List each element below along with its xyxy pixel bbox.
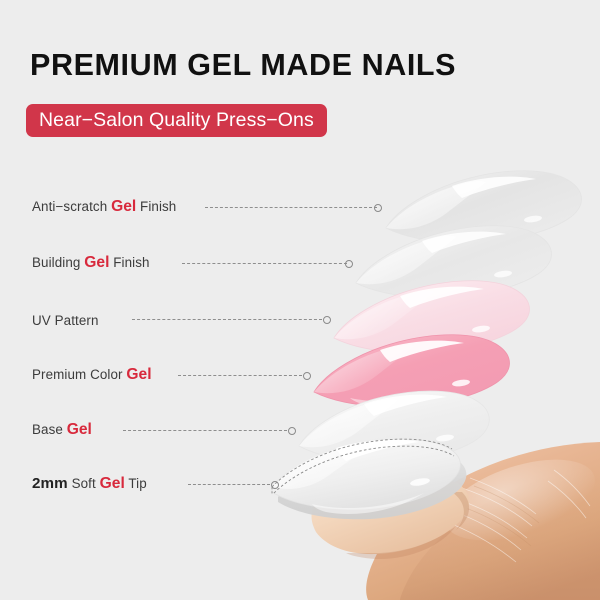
callout-leader-line-uv-pattern: [132, 319, 322, 320]
callout-label-gel-word: Gel: [126, 366, 151, 383]
callout-label-gel-word: Gel: [111, 198, 136, 215]
nail-layers-illustration: [0, 0, 600, 600]
callout-label-gel-word: Gel: [67, 421, 92, 438]
callout-label-gel-word: Gel: [100, 475, 125, 492]
callout-endpoint-marker-building-gel-finish: [345, 260, 353, 268]
callout-endpoint-marker-anti-scratch-gel-finish: [374, 204, 382, 212]
callout-label-suffix: Finish: [136, 199, 176, 214]
callout-label-prefix: Anti−scratch: [32, 199, 111, 214]
callout-leader-line-premium-color-gel: [178, 375, 302, 376]
callout-label-prefix: Premium Color: [32, 367, 126, 382]
callout-leader-line-2mm-soft-gel-tip: [188, 484, 270, 485]
callout-endpoint-marker-2mm-soft-gel-tip: [271, 481, 279, 489]
callout-label-prefix: UV Pattern: [32, 313, 99, 328]
callout-label-prefix: Soft: [68, 476, 100, 491]
callout-label-prefix: Base: [32, 422, 67, 437]
callout-label-uv-pattern: UV Pattern: [32, 313, 99, 328]
subtitle-badge: Near−Salon Quality Press−Ons: [26, 104, 327, 137]
callout-label-emphasis: 2mm: [32, 475, 68, 492]
callout-leader-line-anti-scratch-gel-finish: [205, 207, 377, 208]
callout-endpoint-marker-premium-color-gel: [303, 372, 311, 380]
callout-label-prefix: Building: [32, 255, 84, 270]
product-infographic-poster: PREMIUM GEL MADE NAILS Near−Salon Qualit…: [0, 0, 600, 600]
callout-leader-line-building-gel-finish: [182, 263, 347, 264]
callout-label-gel-word: Gel: [84, 254, 109, 271]
callout-label-suffix: Tip: [125, 476, 147, 491]
callout-leader-line-base-gel: [123, 430, 287, 431]
callout-label-suffix: Finish: [109, 255, 149, 270]
callout-label-anti-scratch-gel-finish: Anti−scratch Gel Finish: [32, 198, 176, 216]
callout-endpoint-marker-base-gel: [288, 427, 296, 435]
callout-label-premium-color-gel: Premium Color Gel: [32, 366, 152, 384]
page-title: PREMIUM GEL MADE NAILS: [30, 50, 456, 81]
callout-endpoint-marker-uv-pattern: [323, 316, 331, 324]
callout-label-2mm-soft-gel-tip: 2mm Soft Gel Tip: [32, 475, 147, 493]
callout-label-base-gel: Base Gel: [32, 421, 92, 439]
callout-label-building-gel-finish: Building Gel Finish: [32, 254, 150, 272]
